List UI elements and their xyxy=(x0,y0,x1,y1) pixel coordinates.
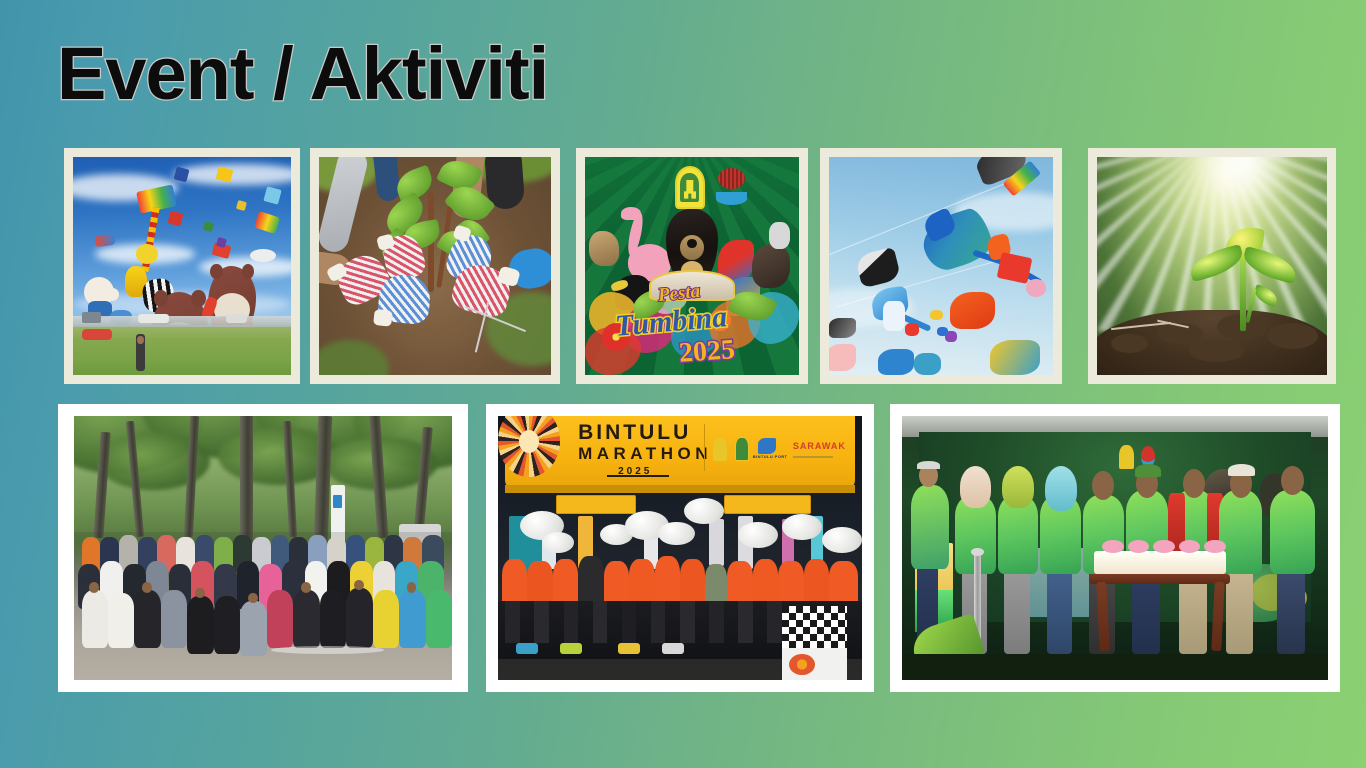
photo-kites-in-sky xyxy=(829,157,1053,375)
green-cap-icon xyxy=(1135,464,1161,477)
marathon-title-line2: MARATHON xyxy=(578,444,712,464)
photo-pesta-tumbina-poster: Pesta Tumbina 2025 xyxy=(585,157,799,375)
sarawak-crest-logo xyxy=(675,166,705,210)
page-title: Event / Aktiviti xyxy=(57,37,548,111)
bintulu-development-authority-logo xyxy=(718,168,746,205)
photo-frame-tree-planting-gloves[interactable] xyxy=(310,148,560,384)
sponsor-crest-icon xyxy=(735,437,750,461)
photo-frame-kite-festival-field[interactable] xyxy=(64,148,300,384)
photo-frame-kites-in-sky[interactable] xyxy=(820,148,1062,384)
photo-tree-planting-gloves xyxy=(319,157,551,375)
sponsor-emblem-icon xyxy=(713,437,728,461)
photo-frame-park-group-run[interactable] xyxy=(58,404,468,692)
white-cap-icon xyxy=(1228,464,1254,476)
photo-frame-cake-cutting-ceremony[interactable] xyxy=(890,404,1340,692)
photo-cake-cutting-ceremony xyxy=(902,416,1328,680)
photo-seedling-in-soil xyxy=(1097,157,1327,375)
marathon-title-line1: BINTULU xyxy=(578,421,691,445)
sponsor-bintulu-port-label: BINTULU PORT xyxy=(753,454,788,459)
photo-bintulu-marathon: BINTULU MARATHON 2025 BINTULU PORT SARAW… xyxy=(498,416,862,680)
photo-frame-bintulu-marathon[interactable]: BINTULU MARATHON 2025 BINTULU PORT SARAW… xyxy=(486,404,874,692)
bintulu-port-logo xyxy=(758,438,776,454)
photo-frame-seedling-in-soil[interactable] xyxy=(1088,148,1336,384)
sponsor-sarawak-label: SARAWAK xyxy=(793,441,846,451)
backdrop-crest-icon xyxy=(1119,445,1133,469)
photo-kite-festival-field xyxy=(73,157,291,375)
photo-park-group-run xyxy=(74,416,452,680)
event-activity-slide: Event / Aktiviti xyxy=(0,0,1366,768)
poster-year: 2025 xyxy=(678,334,736,370)
photo-frame-pesta-tumbina-poster[interactable]: Pesta Tumbina 2025 xyxy=(576,148,808,384)
